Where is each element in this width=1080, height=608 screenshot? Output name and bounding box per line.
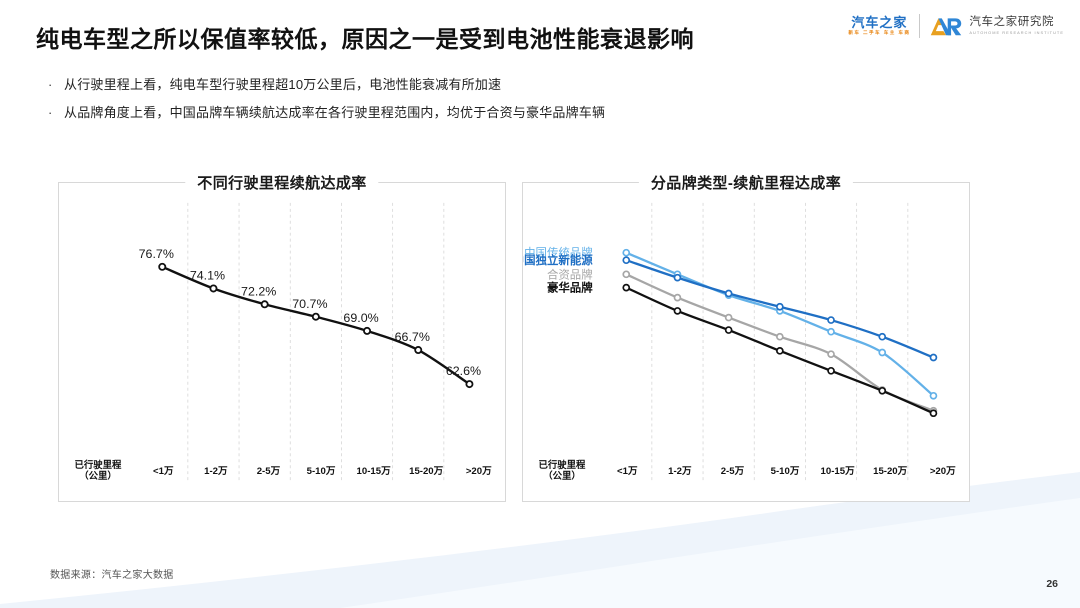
x-axis-tick-3: 5-10万 xyxy=(295,463,348,477)
data-point-marker-2-2 xyxy=(726,315,732,321)
series-line-0 xyxy=(626,253,933,396)
data-label-3: 70.7% xyxy=(292,297,327,311)
series-line-overall xyxy=(162,267,469,384)
logo-divider xyxy=(919,14,920,38)
data-point-marker-4 xyxy=(364,328,370,334)
legend-label-3: 豪华品牌 xyxy=(547,281,593,295)
x-axis-tick-1: 1-2万 xyxy=(190,463,243,477)
bullet-text: 从行驶里程上看，纯电车型行驶里程超10万公里后，电池性能衰减有所加速 xyxy=(64,76,501,93)
x-axis-tick-0: <1万 xyxy=(137,463,190,477)
legend-label-2: 合资品牌 xyxy=(547,267,593,281)
data-label-1: 74.1% xyxy=(190,269,225,283)
data-label-4: 69.0% xyxy=(343,311,378,325)
data-label-5: 66.7% xyxy=(395,330,430,344)
data-point-marker-0-0 xyxy=(623,250,629,256)
x-axis-tick-5: 15-20万 xyxy=(864,463,917,477)
logo-group: 汽车之家 新车 二手车 车主 车商 汽车之家研究院 AUTOHOME RESEA… xyxy=(848,14,1064,38)
line-chart-mileage-range: 76.7%74.1%72.2%70.7%69.0%66.7%62.6% xyxy=(59,183,505,501)
data-point-marker-0-5 xyxy=(879,350,885,356)
data-point-marker-3-3 xyxy=(777,348,783,354)
autohome-logo-text: 汽车之家 xyxy=(851,16,907,29)
x-axis-title-left: 已行驶里程 （公里） xyxy=(59,459,137,482)
data-label-0: 76.7% xyxy=(139,247,174,261)
data-point-marker-0-4 xyxy=(828,329,834,335)
data-point-marker-3-5 xyxy=(879,388,885,394)
data-label-6: 62.6% xyxy=(446,364,481,378)
data-point-marker-2-4 xyxy=(828,351,834,357)
line-chart-brand-type: 中国传统品牌中国独立新能源合资品牌豪华品牌 xyxy=(523,183,969,501)
data-point-marker-1-5 xyxy=(879,334,885,340)
series-line-2 xyxy=(626,274,933,410)
data-point-marker-1-3 xyxy=(777,304,783,310)
data-point-marker-3-0 xyxy=(623,285,629,291)
data-point-marker-1-1 xyxy=(674,275,680,281)
x-axis-title-right: 已行驶里程 （公里） xyxy=(523,459,601,482)
data-point-marker-2 xyxy=(262,301,268,307)
x-axis-tick-4: 10-15万 xyxy=(347,463,400,477)
data-point-marker-3-6 xyxy=(930,410,936,416)
research-institute-logo: 汽车之家研究院 AUTOHOME RESEARCH INSTITUTE xyxy=(929,15,1064,37)
x-axis-tick-0: <1万 xyxy=(601,463,654,477)
bullet-list: · 从行驶里程上看，纯电车型行驶里程超10万公里后，电池性能衰减有所加速 · 从… xyxy=(48,76,948,132)
data-source-note: 数据来源：汽车之家大数据 xyxy=(50,566,174,581)
x-axis-tick-5: 15-20万 xyxy=(400,463,453,477)
x-axis-tick-2: 2-5万 xyxy=(242,463,295,477)
data-point-marker-3-1 xyxy=(674,308,680,314)
page-title: 纯电车型之所以保值率较低，原因之一是受到电池性能衰退影响 xyxy=(36,20,694,54)
x-axis-row-right: 已行驶里程 （公里） <1万1-2万2-5万5-10万10-15万15-20万>… xyxy=(523,455,969,485)
x-axis-row-left: 已行驶里程 （公里） <1万1-2万2-5万5-10万10-15万15-20万>… xyxy=(59,455,505,485)
data-point-marker-6 xyxy=(466,381,472,387)
data-point-marker-2-3 xyxy=(777,334,783,340)
x-axis-tick-1: 1-2万 xyxy=(654,463,707,477)
autohome-logo: 汽车之家 新车 二手车 车主 车商 xyxy=(848,16,910,36)
list-item: · 从行驶里程上看，纯电车型行驶里程超10万公里后，电池性能衰减有所加速 xyxy=(48,76,948,93)
page-number: 26 xyxy=(1046,578,1058,590)
data-point-marker-3 xyxy=(313,314,319,320)
x-axis-tick-6: >20万 xyxy=(452,463,505,477)
bullet-marker-icon: · xyxy=(48,76,64,93)
x-axis-ticks-left: <1万1-2万2-5万5-10万10-15万15-20万>20万 xyxy=(137,463,505,477)
data-point-marker-3-4 xyxy=(828,368,834,374)
chart-card-mileage-range: 不同行驶里程续航达成率 76.7%74.1%72.2%70.7%69.0%66.… xyxy=(58,182,506,502)
data-point-marker-2-1 xyxy=(674,295,680,301)
data-point-marker-1-4 xyxy=(828,317,834,323)
data-point-marker-0-6 xyxy=(930,393,936,399)
list-item: · 从品牌角度上看，中国品牌车辆续航达成率在各行驶里程范围内，均优于合资与豪华品… xyxy=(48,104,948,121)
slide-root: 纯电车型之所以保值率较低，原因之一是受到电池性能衰退影响 汽车之家 新车 二手车… xyxy=(0,0,1080,608)
research-institute-name: 汽车之家研究院 xyxy=(969,17,1064,29)
x-axis-tick-6: >20万 xyxy=(916,463,969,477)
bullet-text: 从品牌角度上看，中国品牌车辆续航达成率在各行驶里程范围内，均优于合资与豪华品牌车… xyxy=(64,104,605,121)
ar-monogram-icon xyxy=(929,15,963,37)
data-point-marker-1-6 xyxy=(930,355,936,361)
data-point-marker-5 xyxy=(415,347,421,353)
research-institute-name-en: AUTOHOME RESEARCH INSTITUTE xyxy=(969,31,1064,35)
data-point-marker-3-2 xyxy=(726,327,732,333)
chart-card-brand-type: 分品牌类型-续航里程达成率 中国传统品牌中国独立新能源合资品牌豪华品牌 已行驶里… xyxy=(522,182,970,502)
data-point-marker-1-2 xyxy=(726,290,732,296)
data-point-marker-0 xyxy=(159,264,165,270)
x-axis-tick-3: 5-10万 xyxy=(759,463,812,477)
data-point-marker-1 xyxy=(210,285,216,291)
data-label-2: 72.2% xyxy=(241,284,276,298)
x-axis-tick-4: 10-15万 xyxy=(811,463,864,477)
data-point-marker-2-0 xyxy=(623,271,629,277)
data-point-marker-1-0 xyxy=(623,257,629,263)
legend-label-1: 中国独立新能源 xyxy=(523,253,593,267)
autohome-logo-subtext: 新车 二手车 车主 车商 xyxy=(848,31,910,36)
slide-header: 纯电车型之所以保值率较低，原因之一是受到电池性能衰退影响 汽车之家 新车 二手车… xyxy=(0,0,1080,64)
x-axis-tick-2: 2-5万 xyxy=(706,463,759,477)
x-axis-ticks-right: <1万1-2万2-5万5-10万10-15万15-20万>20万 xyxy=(601,463,969,477)
bullet-marker-icon: · xyxy=(48,104,64,121)
